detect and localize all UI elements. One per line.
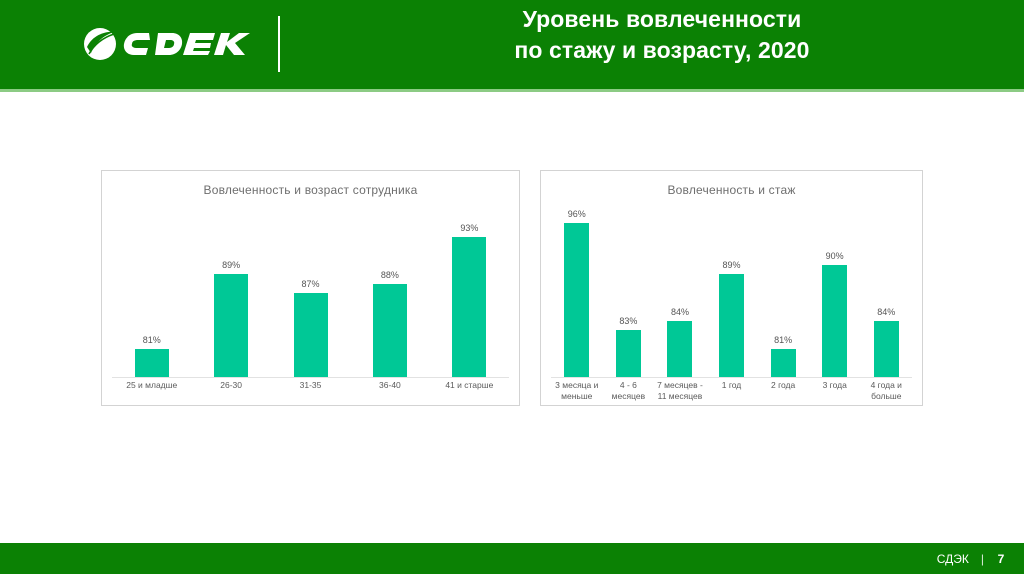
bar xyxy=(373,284,407,377)
x-axis-label: 4 - 6 месяцев xyxy=(603,380,655,402)
chart-panel-tenure: Вовлеченность и стаж 96% 83% 84% 89% xyxy=(540,170,923,406)
chart-title-tenure: Вовлеченность и стаж xyxy=(541,183,922,197)
bar xyxy=(214,274,248,377)
bar-slot: 89% xyxy=(706,209,758,377)
page-title: Уровень вовлеченности по стажу и возраст… xyxy=(300,4,1024,66)
bar-slot: 96% xyxy=(551,209,603,377)
page-title-line-2: по стажу и возрасту, 2020 xyxy=(300,35,1024,66)
x-axis-label: 2 года xyxy=(757,380,809,391)
bar xyxy=(822,265,847,377)
chart-title-age: Вовлеченность и возраст сотрудника xyxy=(102,183,519,197)
slide-footer: СДЭК | 7 xyxy=(0,543,1024,574)
x-axis-label: 41 и старше xyxy=(430,380,509,391)
plot-area-age: 81% 89% 87% 88% 93% xyxy=(112,209,509,378)
bar xyxy=(135,349,169,377)
bar-slot: 83% xyxy=(603,209,655,377)
bar-value-label: 93% xyxy=(460,223,478,233)
x-axis-labels-age: 25 и младше 26-30 31-35 36-40 41 и старш… xyxy=(112,380,509,391)
footer-meta: СДЭК | 7 xyxy=(937,543,1006,574)
x-axis-label: 36-40 xyxy=(350,380,429,391)
bar-slot: 87% xyxy=(271,209,350,377)
bar-value-label: 89% xyxy=(222,260,240,270)
bar xyxy=(771,349,796,377)
bar-value-label: 96% xyxy=(568,209,586,219)
bar-value-label: 88% xyxy=(381,270,399,280)
cdek-logo xyxy=(83,22,272,66)
x-axis-label: 3 года xyxy=(809,380,861,391)
x-axis-label: 1 год xyxy=(706,380,758,391)
charts-area: Вовлеченность и возраст сотрудника 81% 8… xyxy=(0,92,1024,543)
bar xyxy=(616,330,641,377)
page-number: 7 xyxy=(996,552,1006,566)
axis-baseline xyxy=(112,377,509,378)
bar xyxy=(719,274,744,377)
bar-value-label: 87% xyxy=(302,279,320,289)
footer-separator: | xyxy=(981,552,984,566)
bar-slot: 93% xyxy=(430,209,509,377)
bar-slot: 89% xyxy=(191,209,270,377)
x-axis-label: 4 года и больше xyxy=(860,380,912,402)
bar xyxy=(874,321,899,377)
bar xyxy=(294,293,328,377)
bar xyxy=(564,223,589,377)
plot-area-tenure: 96% 83% 84% 89% 81% xyxy=(551,209,912,378)
bar-value-label: 84% xyxy=(877,307,895,317)
bar-slot: 81% xyxy=(112,209,191,377)
axis-baseline xyxy=(551,377,912,378)
header-divider xyxy=(278,16,280,72)
page-title-line-1: Уровень вовлеченности xyxy=(300,4,1024,35)
bar-value-label: 90% xyxy=(826,251,844,261)
cdek-wordmark-icon xyxy=(122,27,272,61)
x-axis-label: 25 и младше xyxy=(112,380,191,391)
x-axis-labels-tenure: 3 месяца и меньше 4 - 6 месяцев 7 месяце… xyxy=(551,380,912,402)
x-axis-label: 31-35 xyxy=(271,380,350,391)
slide-header: Уровень вовлеченности по стажу и возраст… xyxy=(0,0,1024,89)
bar-value-label: 83% xyxy=(619,316,637,326)
bar-value-label: 81% xyxy=(774,335,792,345)
bar-group-age: 81% 89% 87% 88% 93% xyxy=(112,209,509,377)
bar-value-label: 89% xyxy=(723,260,741,270)
bar-value-label: 81% xyxy=(143,335,161,345)
bar-value-label: 84% xyxy=(671,307,689,317)
chart-panel-age: Вовлеченность и возраст сотрудника 81% 8… xyxy=(101,170,520,406)
bar xyxy=(667,321,692,377)
x-axis-label: 7 месяцев - 11 месяцев xyxy=(654,380,706,402)
bar-slot: 84% xyxy=(654,209,706,377)
bar-slot: 90% xyxy=(809,209,861,377)
bar-slot: 84% xyxy=(860,209,912,377)
bar xyxy=(452,237,486,377)
bar-group-tenure: 96% 83% 84% 89% 81% xyxy=(551,209,912,377)
bar-slot: 81% xyxy=(757,209,809,377)
bar-slot: 88% xyxy=(350,209,429,377)
x-axis-label: 3 месяца и меньше xyxy=(551,380,603,402)
x-axis-label: 26-30 xyxy=(191,380,270,391)
footer-brand: СДЭК xyxy=(937,552,969,566)
cdek-leaf-circle-icon xyxy=(83,27,117,61)
